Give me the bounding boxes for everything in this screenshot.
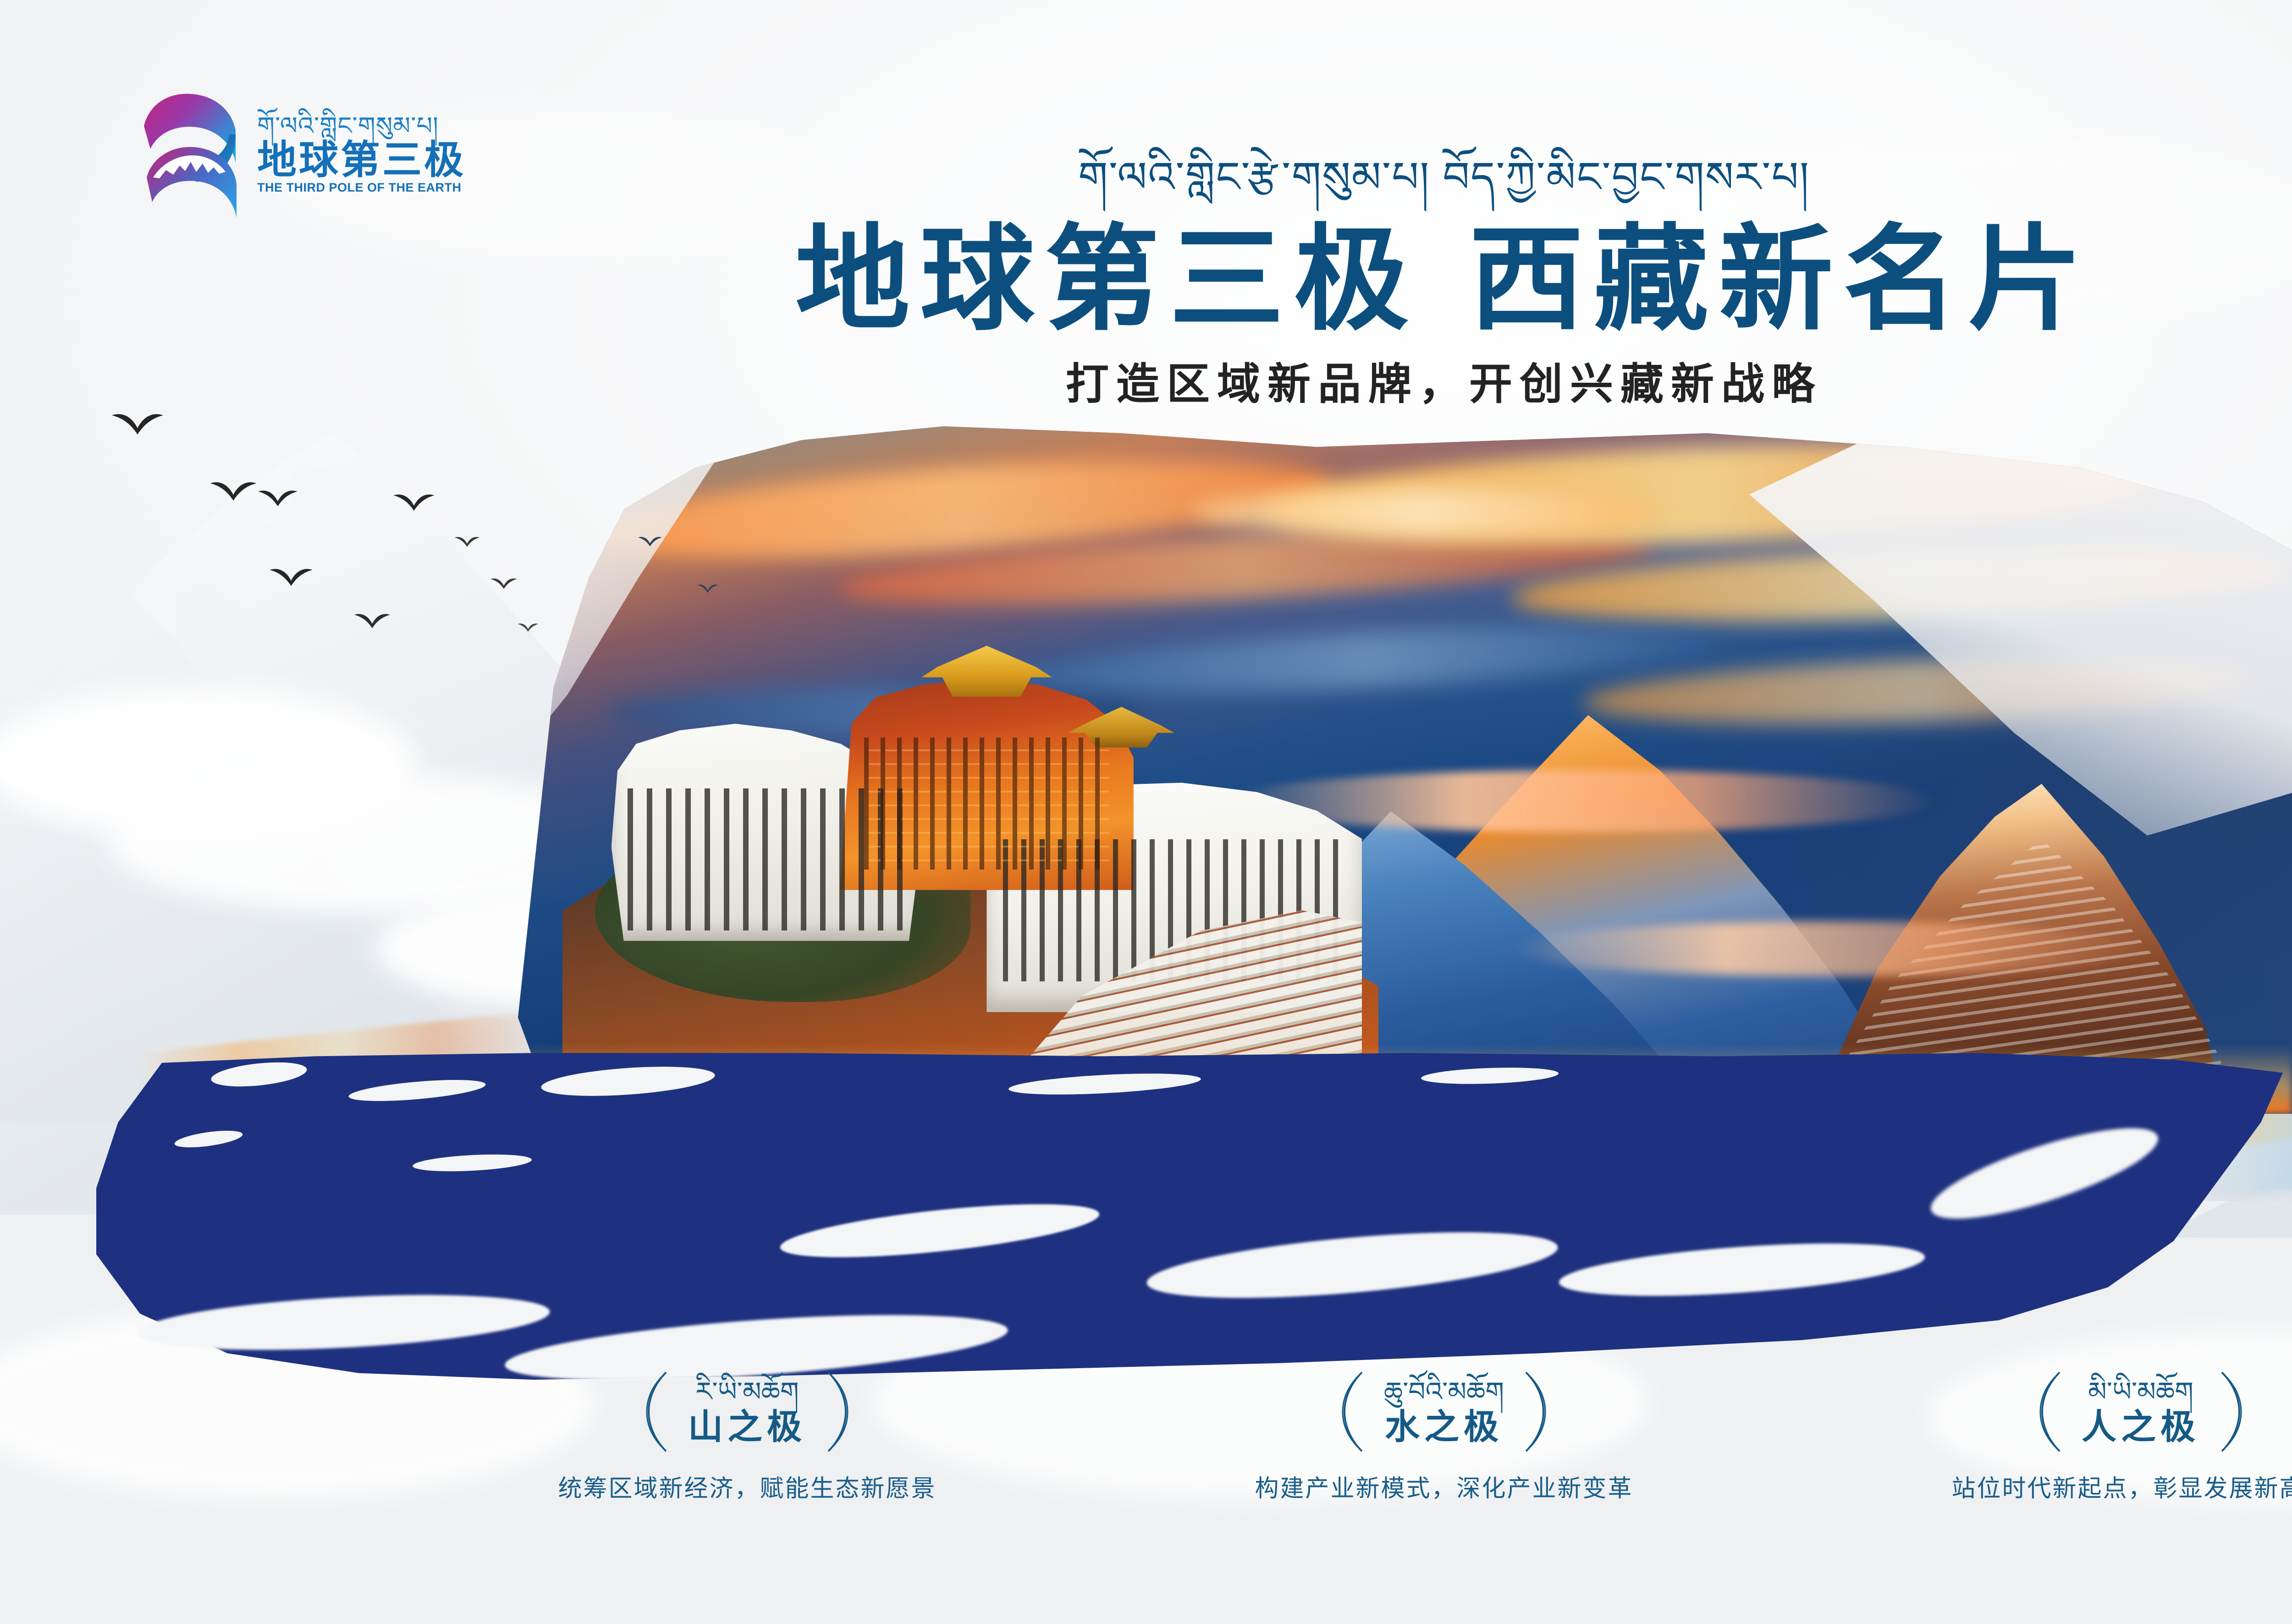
sky-cloud-streak	[1192, 488, 1653, 536]
pillar-tibetan-label: མི་ཡི་མཆོག	[2088, 1378, 2193, 1406]
pillar-tibetan-label: རི་ཡི་མཆོག	[695, 1378, 799, 1406]
bird-icon	[454, 534, 480, 547]
cloud-decoration	[0, 688, 417, 839]
bird-icon	[490, 575, 518, 589]
pillar-chinese-label: 人之极	[2082, 1409, 2200, 1446]
pillar-item-mountain[interactable]: རི་ཡི་མཆོག 山之极 统筹区域新经济，赋能生态新愿景	[518, 1371, 976, 1502]
pillar-description: 统筹区域新经济，赋能生态新愿景	[518, 1476, 976, 1502]
decorative-bracket-left-icon	[2036, 1371, 2066, 1453]
potala-palace	[562, 605, 1378, 1114]
pillar-heading: མི་ཡི་མཆོག 人之极	[1912, 1371, 2292, 1453]
pillar-chinese-label: 山之极	[688, 1409, 806, 1446]
headline-block: གོ་ལའི་གླིང་རྩེ་གསུམ་པ། བོད་ཀྱི་མིང་བྱང་…	[0, 151, 2292, 407]
bird-icon	[110, 408, 165, 435]
pillar-item-water[interactable]: ཆུ་བོའི་མཆོག 水之极 构建产业新模式，深化产业新变革	[1215, 1371, 1673, 1502]
bird-icon	[353, 610, 391, 629]
bird-icon	[392, 490, 436, 512]
decorative-bracket-right-icon	[2215, 1371, 2246, 1453]
decorative-bracket-left-icon	[1338, 1371, 1368, 1453]
pillar-heading: རི་ཡི་མཆོག 山之极	[518, 1371, 976, 1453]
title-part-two: 西藏新名片	[1469, 215, 2093, 343]
logo-tibetan-name: གོ་ལའི་གླིང་གསུམ་པ།	[257, 114, 466, 138]
decorative-bracket-left-icon	[642, 1371, 672, 1453]
page-title: 地球第三极西藏新名片	[0, 220, 2292, 340]
pillar-description: 构建产业新模式，深化产业新变革	[1215, 1476, 1673, 1502]
bird-icon	[209, 477, 258, 501]
pillar-labels: ཆུ་བོའི་མཆོག 水之极	[1384, 1378, 1504, 1446]
pillar-item-people[interactable]: མི་ཡི་མཆོག 人之极 站位时代新起点，彰显发展新高度	[1912, 1371, 2292, 1502]
title-part-one: 地球第三极	[795, 215, 1419, 343]
potala-windows	[628, 788, 905, 931]
page-subtitle: 打造区域新品牌，开创兴藏新战略	[0, 360, 2292, 407]
decorative-bracket-right-icon	[1520, 1371, 1550, 1453]
headline-tibetan: གོ་ལའི་གླིང་རྩེ་གསུམ་པ། བོད་ཀྱི་མིང་བྱང་…	[0, 151, 2292, 204]
pillar-labels: རི་ཡི་མཆོག 山之极	[688, 1378, 806, 1446]
central-photo-montage	[518, 426, 2292, 1114]
pillar-tibetan-label: ཆུ་བོའི་མཆོག	[1384, 1378, 1504, 1406]
potala-windows	[864, 738, 1109, 870]
pillar-description: 站位时代新起点，彰显发展新高度	[1912, 1476, 2292, 1502]
lenticular-cloud-band	[1511, 921, 2150, 976]
bird-icon	[257, 486, 299, 507]
bird-icon	[517, 621, 539, 632]
pillars-row: རི་ཡི་མཆོག 山之极 统筹区域新经济，赋能生态新愿景	[0, 1371, 2292, 1502]
decorative-bracket-right-icon	[822, 1371, 852, 1453]
poster-canvas: གོ་ལའི་གླིང་གསུམ་པ། 地球第三极 THE THIRD POLE…	[0, 0, 2292, 1624]
bird-icon	[268, 564, 314, 587]
pillar-labels: མི་ཡི་མཆོག 人之极	[2082, 1378, 2200, 1446]
pillar-heading: ཆུ་བོའི་མཆོག 水之极	[1215, 1371, 1673, 1453]
pillar-chinese-label: 水之极	[1385, 1409, 1503, 1446]
